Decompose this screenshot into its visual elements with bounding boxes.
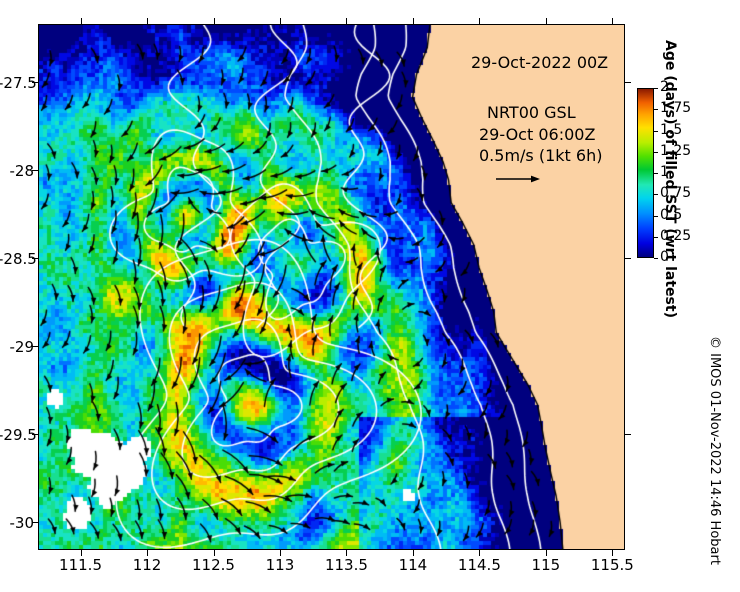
x-tick-label: 114.5 <box>449 556 509 574</box>
x-tick-top <box>280 18 281 24</box>
colorbar-tick <box>654 88 658 89</box>
x-tick-top <box>413 18 414 24</box>
x-tick-label: 111.5 <box>51 556 111 574</box>
x-tick-label: 113 <box>250 556 310 574</box>
y-tick-label: -29.5 <box>0 426 34 442</box>
y-tick-label: -28.5 <box>0 250 34 266</box>
y-tick-label: -30 <box>0 514 34 530</box>
y-tick-label: -28 <box>0 162 34 178</box>
x-tick-label: 115 <box>516 556 576 574</box>
x-tick-top <box>214 18 215 24</box>
colorbar-tick <box>654 194 658 195</box>
x-tick-top <box>147 18 148 24</box>
timestamp-annotation: 29-Oct-2022 00Z <box>471 53 608 72</box>
colorbar-tick <box>654 237 658 238</box>
colorbar-gradient <box>637 88 654 258</box>
satellite-sst-age-map: 29-Oct-2022 00Z NRT00 GSL 29-Oct 06:00Z … <box>0 0 740 592</box>
x-tick-top <box>612 18 613 24</box>
colorbar-tick <box>654 216 658 217</box>
colorbar-tick <box>654 131 658 132</box>
y-tick-right <box>625 258 631 259</box>
y-tick-right <box>625 82 631 83</box>
x-tick-top <box>479 18 480 24</box>
product-name-annotation: NRT00 GSL <box>487 103 576 122</box>
vector-scale-annotation: 0.5m/s (1kt 6h) <box>479 146 602 165</box>
y-tick-label: -29 <box>0 338 34 354</box>
x-tick-label: 112.5 <box>184 556 244 574</box>
colorbar-tick <box>654 152 658 153</box>
x-tick-label: 112 <box>117 556 177 574</box>
x-tick-top <box>81 18 82 24</box>
x-tick-top <box>546 18 547 24</box>
y-tick-right <box>625 434 631 435</box>
colorbar-tick <box>654 258 658 259</box>
colorbar-tick <box>654 173 658 174</box>
x-tick-label: 113.5 <box>316 556 376 574</box>
product-time-annotation: 29-Oct 06:00Z <box>479 125 595 144</box>
x-tick-label: 115.5 <box>582 556 642 574</box>
x-tick-top <box>346 18 347 24</box>
colorbar-title: Age (days) of filled SST (wrt latest) <box>662 40 678 318</box>
colorbar-tick <box>654 109 658 110</box>
x-tick-label: 114 <box>383 556 443 574</box>
copyright-credit: © IMOS 01-Nov-2022 14:46 Hobart <box>707 336 722 565</box>
map-plot-area[interactable]: 29-Oct-2022 00Z NRT00 GSL 29-Oct 06:00Z … <box>38 24 625 550</box>
y-tick-label: -27.5 <box>0 74 34 90</box>
reference-arrow-icon <box>495 173 541 185</box>
